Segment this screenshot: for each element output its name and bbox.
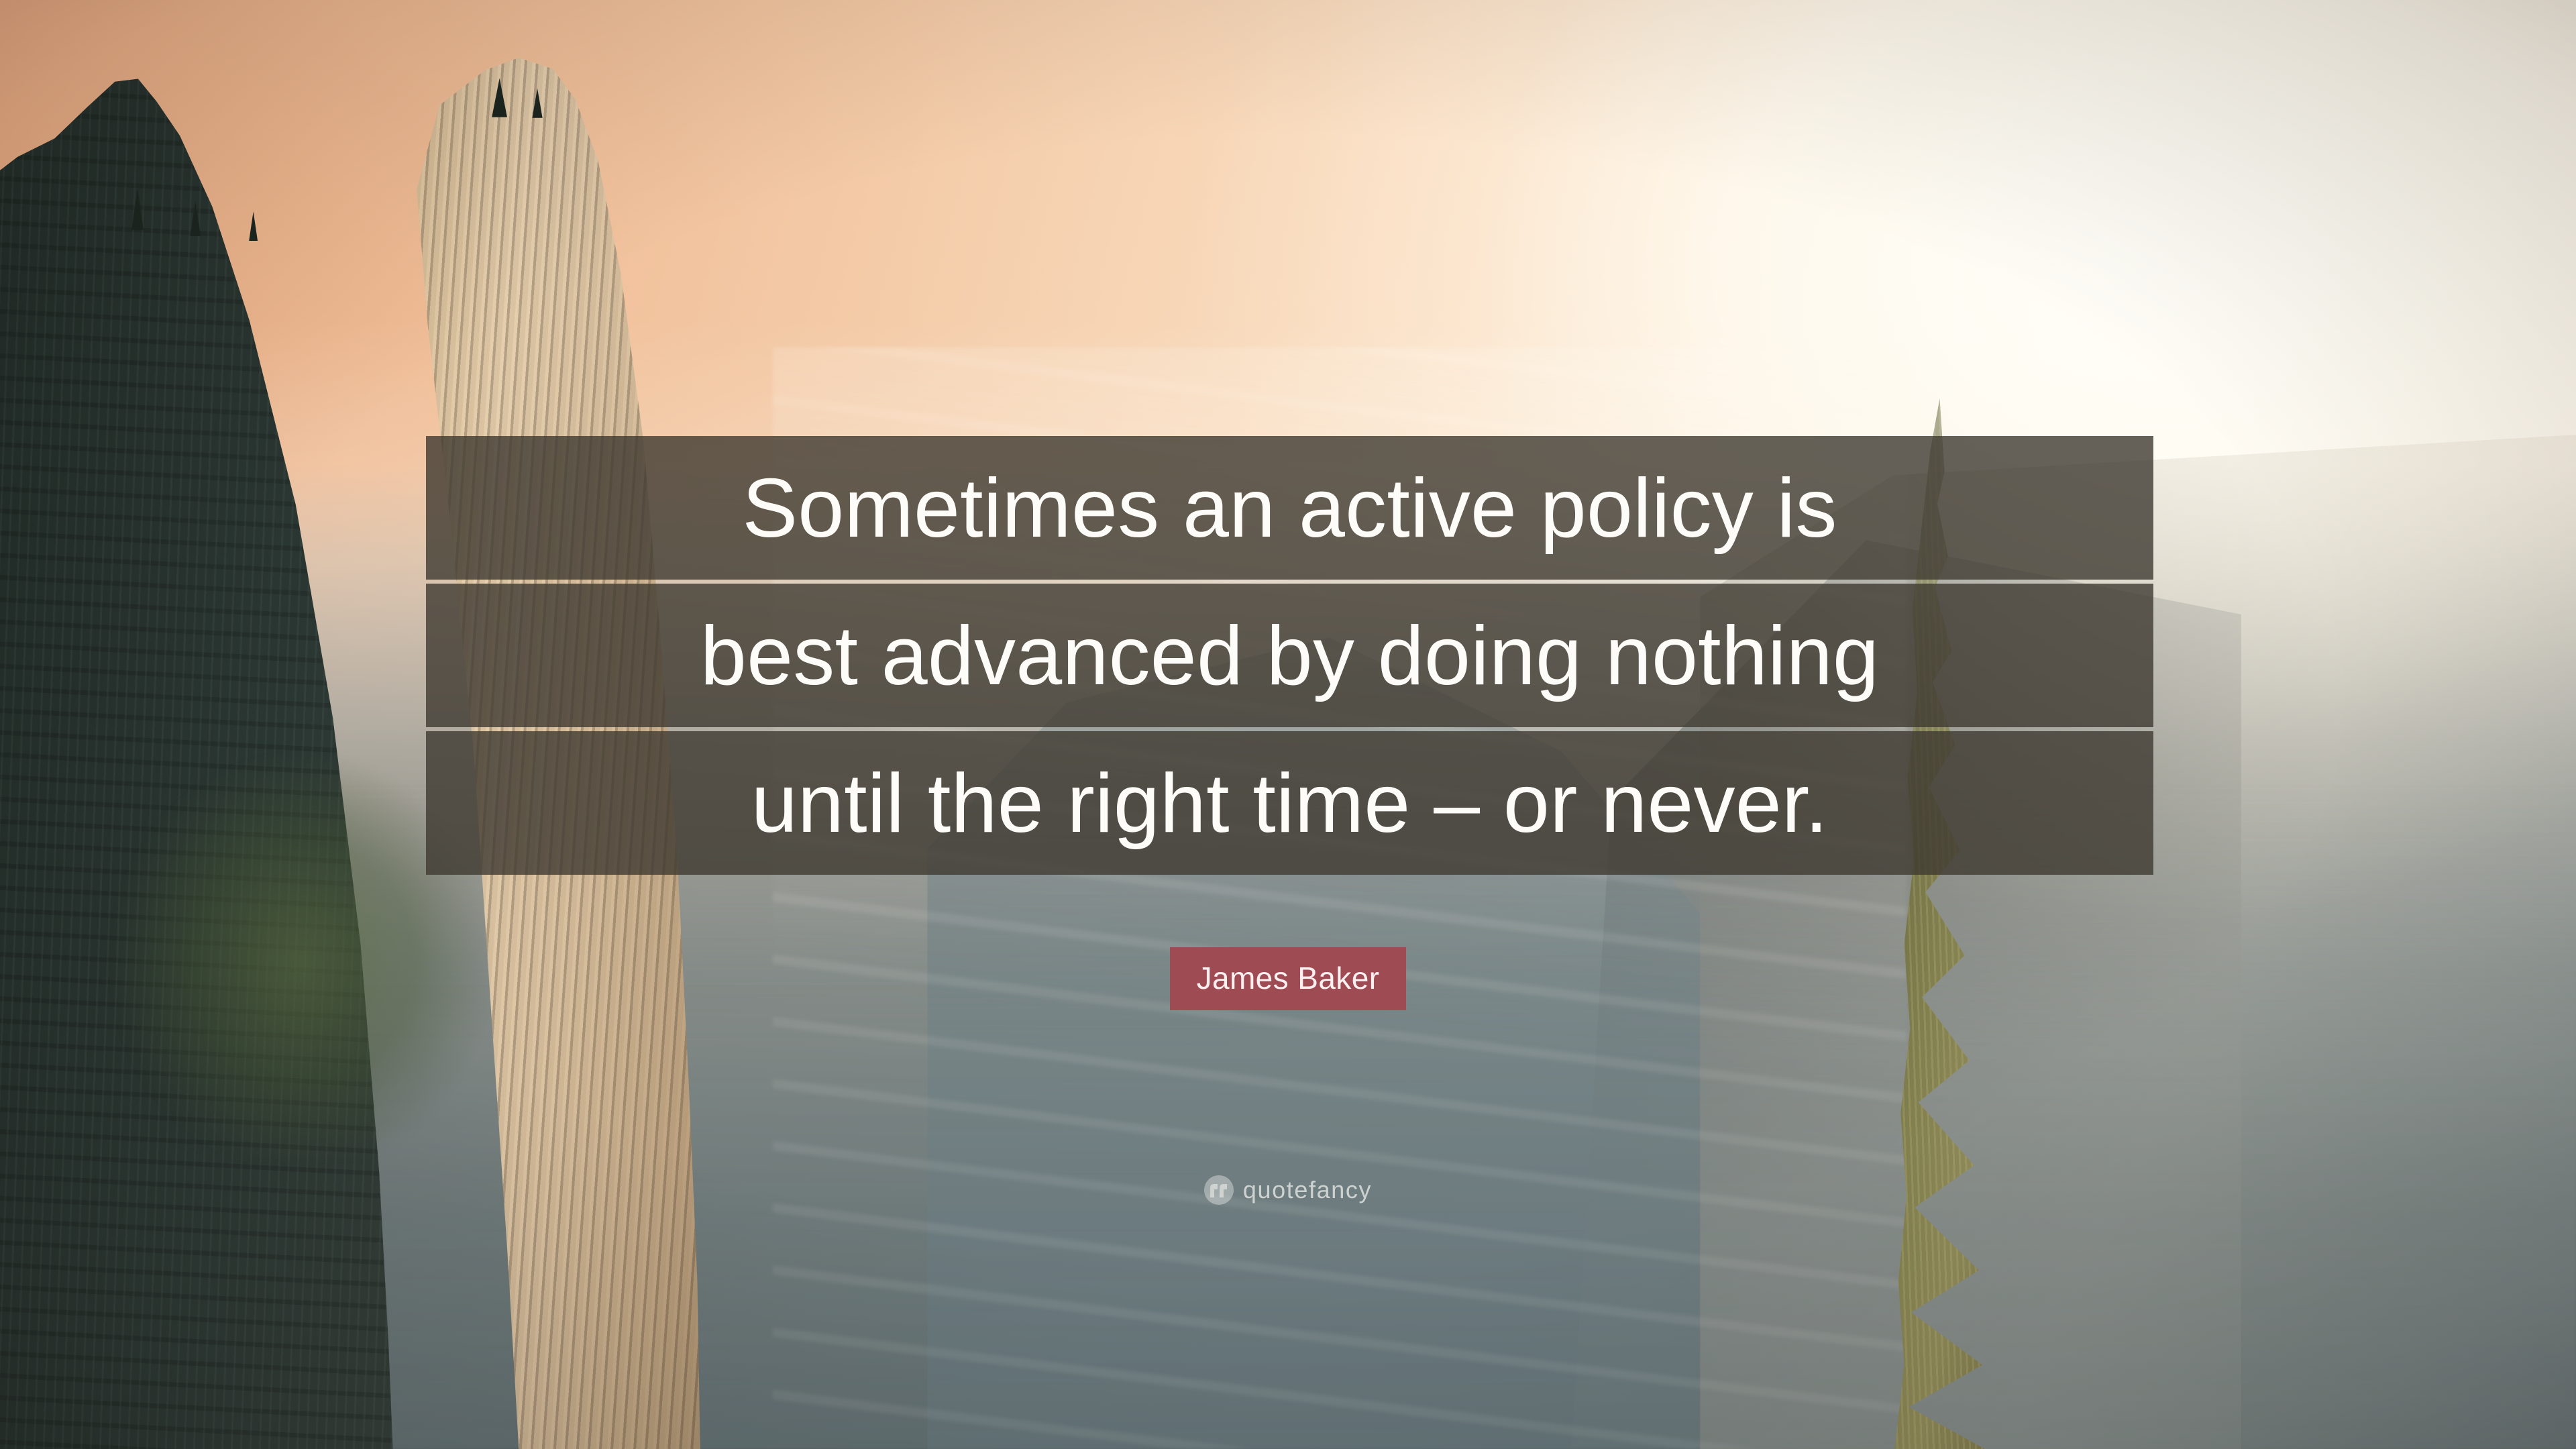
quotefancy-brand-label: quotefancy bbox=[1243, 1178, 1372, 1202]
author-attribution: James Baker bbox=[0, 947, 2576, 1010]
quote-text-block: Sometimes an active policy is best advan… bbox=[426, 436, 2153, 875]
quote-line-1: Sometimes an active policy is bbox=[426, 436, 2153, 580]
author-name[interactable]: James Baker bbox=[1170, 947, 1407, 1010]
quote-line-3: until the right time – or never. bbox=[426, 731, 2153, 875]
quote-line-2: best advanced by doing nothing bbox=[426, 584, 2153, 727]
quotefancy-watermark[interactable]: quotefancy bbox=[0, 1175, 2576, 1205]
quote-mark-icon bbox=[1204, 1175, 1234, 1205]
quote-poster: Sometimes an active policy is best advan… bbox=[0, 0, 2576, 1449]
